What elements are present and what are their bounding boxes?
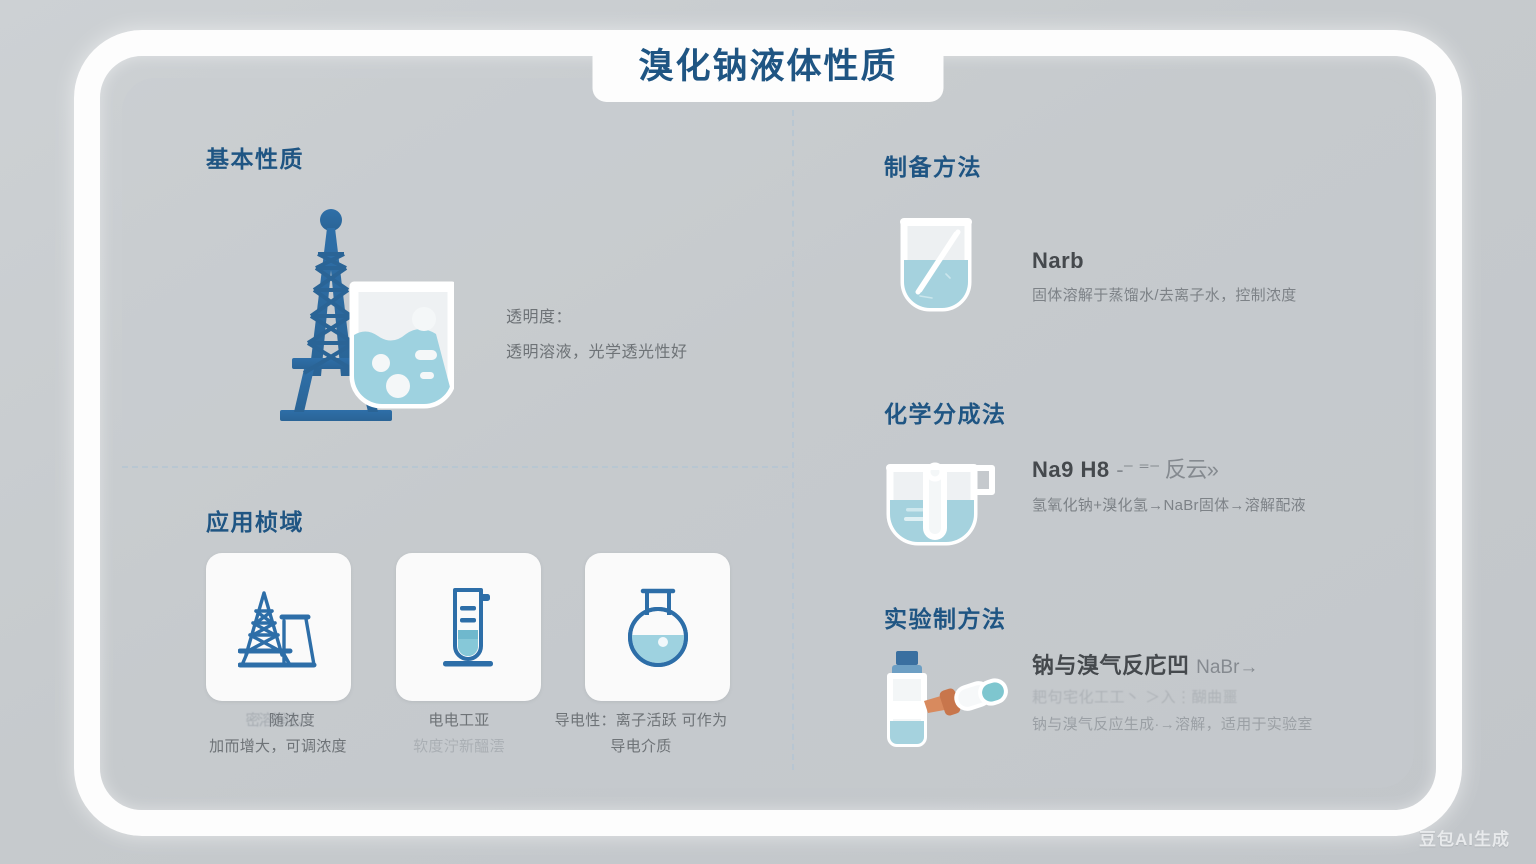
caption-ghost-line: 软度泞新醞澐 — [369, 734, 549, 760]
application-card-flask[interactable] — [585, 553, 730, 701]
page-title: 溴化钠液体性质 — [638, 46, 897, 88]
basic-properties-text: 透明度： 透明溶液，光学透光性好 — [506, 300, 756, 370]
experimental-title: 钠与溴气反庀凹 NaBr→ — [1032, 648, 1313, 680]
section-heading-chemical-synthesis: 化学分成法 — [884, 395, 1007, 429]
infographic-poster: 溴化钠液体性质 基本性质 — [0, 0, 1536, 864]
caption-line-1: 电电工亚 — [428, 712, 489, 729]
application-card-row — [206, 553, 730, 703]
round-flask-icon — [617, 585, 699, 669]
oil-derrick-and-beaker-icon — [258, 198, 454, 430]
application-caption-testtube: 电电工亚 软度泞新醞澐 — [369, 708, 549, 760]
chemical-synthesis-title: Na9 H8 -⁻ ⁼⁻ 反云» — [1032, 452, 1306, 484]
transparency-label: 透明度： — [506, 300, 756, 335]
experimental-garble-line: 耙句宅化工工丶 ＞入⋮醐曲噩 — [1032, 686, 1313, 707]
experimental-title-text: 钠与溴气反庀凹 — [1032, 653, 1190, 678]
section-heading-basic-properties: 基本性质 — [206, 140, 304, 174]
test-tube-stand-icon — [433, 584, 503, 670]
application-card-testtube[interactable] — [396, 553, 541, 701]
reagent-bottle-dropper-icon — [872, 645, 1012, 750]
application-caption-oil: 密溶解庄、 随浓度 加而增大，可调浓度 — [188, 708, 368, 760]
application-caption-flask: 导电性：离子活跃 可作为导电介质 — [551, 708, 731, 760]
preparation-subtitle: 固体溶解于蒸馏水/去离子水，控制浓度 — [1032, 284, 1297, 305]
experimental-subtitle: 钠与溴气反应生成·→溶解，适用于实验室 — [1032, 713, 1313, 734]
experimental-formula: NaBr→ — [1196, 657, 1258, 678]
preparation-title: Narb — [1032, 248, 1297, 274]
ai-watermark: 豆包AI生成 — [1419, 825, 1510, 850]
vertical-divider — [792, 110, 794, 770]
caption-line-2: 加而增大，可调浓度 — [209, 738, 347, 755]
section-heading-experimental: 实验制方法 — [884, 600, 1007, 634]
transparency-value: 透明溶液，光学透光性好 — [506, 335, 756, 370]
formula-garble: -⁻ ⁼⁻ 反云» — [1116, 457, 1218, 482]
chemical-synthesis-text-block: Na9 H8 -⁻ ⁼⁻ 反云» 氢氧化钠+溴化氢→NaBr固体→溶解配液 — [1032, 452, 1306, 515]
horizontal-divider — [122, 466, 788, 468]
section-heading-applications: 应用桢域 — [206, 503, 304, 537]
beaker-with-stir-rod-icon — [880, 208, 992, 320]
application-card-oil[interactable] — [206, 553, 351, 701]
section-heading-preparation: 制备方法 — [884, 148, 982, 182]
caption-line-1: 导电性：离子活跃 — [555, 712, 677, 729]
caption-overlap-line: 密溶解庄、 随浓度 — [188, 708, 368, 734]
caption-overlay-text: 随浓度 — [202, 708, 382, 734]
title-chip: 溴化钠液体性质 — [592, 36, 943, 102]
formula-text: Na9 H8 — [1032, 457, 1110, 482]
preparation-text-block: Narb 固体溶解于蒸馏水/去离子水，控制浓度 — [1032, 248, 1297, 305]
oil-derrick-icon — [238, 585, 320, 669]
experimental-text-block: 钠与溴气反庀凹 NaBr→ 耙句宅化工工丶 ＞入⋮醐曲噩 钠与溴气反应生成·→溶… — [1032, 648, 1313, 734]
chemical-synthesis-subtitle: 氢氧化钠+溴化氢→NaBr固体→溶解配液 — [1032, 494, 1306, 515]
beaker-with-test-tube-icon — [872, 450, 984, 562]
